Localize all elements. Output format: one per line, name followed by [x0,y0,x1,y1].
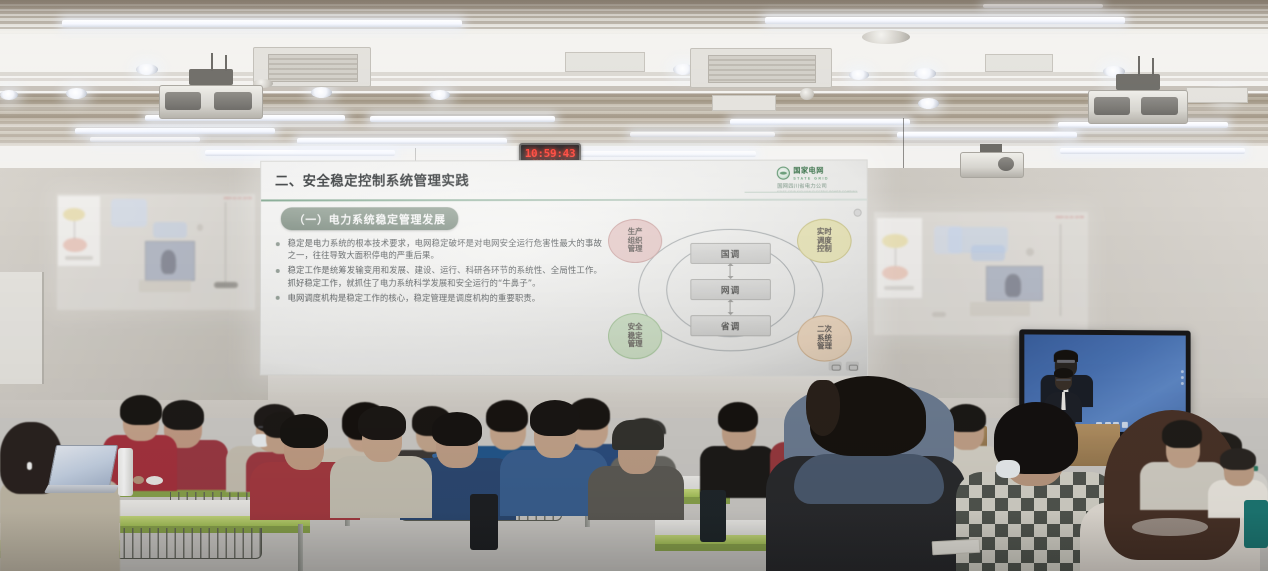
laptop-screen [48,445,118,487]
student [700,400,776,498]
left-wall-projection: 2024-11-21 10:59 [57,194,255,310]
earbud [27,462,32,470]
ceiling-downlight [0,90,18,100]
student [0,418,120,571]
diagram-box-national: 国调 [690,243,771,264]
list-item: 稳定工作是统筹发输变用和发展、建设、运行、科研各环节的系统性、全局性工作。抓好稳… [274,264,602,288]
small-object [133,476,144,484]
ceiling [0,0,1268,172]
ceiling-light-tube [205,150,395,156]
desk-leg [298,524,303,571]
ceiling-light-tube [897,132,1077,138]
logo-english-name: STATE GRID [793,176,829,180]
ceiling-light-tube [297,138,507,144]
ceiling-light-tube [983,4,1103,8]
ceiling-speaker [800,88,814,100]
slide-control-icons[interactable] [829,362,859,371]
small-object [146,476,163,485]
ceiling-light-tube [62,20,462,27]
whiteboard-edge [0,272,44,384]
student-foreground [588,420,684,520]
ceiling-downlight [136,64,158,75]
air-conditioner-vent [690,48,832,88]
state-grid-logo: 国家电网 STATE GRID 国网四川省电力公司 STATE GRID SIC… [777,165,857,193]
right-wall-projection: 2024-11-21 10:59 [874,212,1088,335]
header-rule [261,199,867,202]
diagram-box-regional: 网调 [690,279,771,300]
slide-control-icon[interactable] [829,362,842,371]
ceiling-vent-small [565,52,645,72]
ceiling-speaker [862,30,910,44]
chair-back [470,494,498,550]
logo-subsidiary: 国网四川省电力公司 [777,183,857,190]
diagram-ellipse-label: 生产 组织 管理 [628,228,643,254]
diagram-ellipse-label: 安全 稳定 管理 [628,323,643,349]
diagram-box-provincial: 省调 [690,315,771,336]
ceiling-vent-small [712,95,776,111]
slide-header: 二、安全稳定控制系统管理实践 国家电网 STATE GRID 国网四川省电力公司… [261,160,867,201]
ceiling-light-tube [1060,148,1245,154]
ceiling-downlight [430,90,450,100]
ceiling-downlight [918,98,939,109]
logo-chinese-name: 国家电网 [793,166,829,176]
ceiling-light-tube [765,17,1125,24]
section-badge: （一）电力系统稳定管理发展 [281,207,459,230]
ceiling-light-tube [730,119,910,125]
diagram-ellipse-realtime: 实时 调度 控制 [797,219,852,263]
chair-back [1244,500,1268,548]
display-side-indicators [1181,370,1184,385]
ceiling-downlight [849,70,869,80]
diagram-arrow [730,302,731,312]
diagram-ellipse-production: 生产 组织 管理 [608,219,662,263]
state-grid-logo-icon [777,166,790,179]
diagram-arrow [730,266,731,276]
diagram-ellipse-secondary: 二次 系统 管理 [797,315,852,361]
slide-control-icon[interactable] [846,362,859,371]
ceiling-vent-small [1186,87,1248,103]
projection-screen: 二、安全稳定控制系统管理实践 国家电网 STATE GRID 国网四川省电力公司… [260,159,868,376]
student-laptop[interactable] [52,445,112,485]
chair-back [700,490,726,542]
slide-diagram: 国调 网调 省调 生产 组织 管理 实时 调度 控制 安全 稳定 管理 二次 系… [604,217,856,366]
diagram-ellipse-label: 实时 调度 控制 [817,228,832,254]
laptop-keyboard [44,485,119,493]
ceiling-light-tube [75,128,275,134]
ceiling-light-tube [556,151,756,157]
slide-corner-marker [854,209,862,217]
logo-divider [745,192,858,193]
clock-time: 10:59:43 [521,147,579,160]
ceiling-light-tube [630,132,775,137]
notebook [932,539,981,555]
ceiling-vent-small [985,54,1053,72]
ceiling-light-tube [370,116,555,122]
ceiling-downlight [66,88,87,99]
ceiling-downlight [311,87,332,98]
thermos-cup [118,448,133,496]
ceiling-light-tube [90,137,200,142]
list-item: 电网调度机构是稳定工作的核心，稳定管理是调度机构的重要职责。 [274,292,602,304]
ceiling-projector [159,85,261,117]
wall-projector [960,152,1022,176]
face-mask [996,460,1020,478]
slide-title: 二、安全稳定控制系统管理实践 [275,169,469,189]
diagram-ellipse-safety: 安全 稳定 管理 [608,313,662,359]
classroom-scene: 2024-11-21 10:59 2024-11-21 10:59 10:59:… [0,0,1268,571]
list-item: 稳定是电力系统的根本技术要求，电网稳定破坏是对电网安全运行危害性最大的事故之一，… [274,237,602,261]
ceiling-downlight [914,68,936,79]
student-foreground [330,404,432,518]
diagram-ellipse-label: 二次 系统 管理 [817,325,832,351]
ceiling-projector [1088,90,1186,122]
slide-bullet-list: 稳定是电力系统的根本技术要求，电网稳定破坏是对电网安全运行危害性最大的事故之一，… [274,237,602,307]
